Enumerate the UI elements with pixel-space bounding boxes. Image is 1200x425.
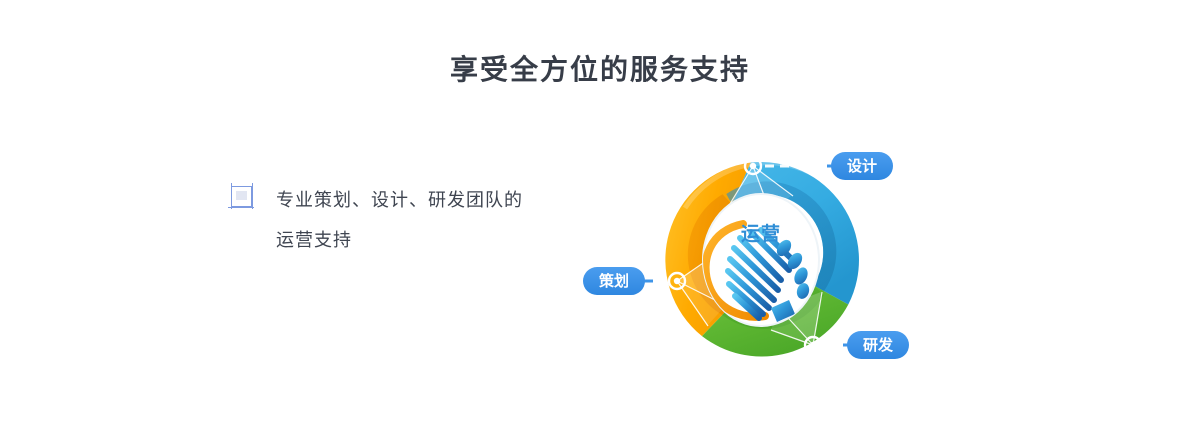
feature-text-line-2: 运营支持 [276, 220, 523, 260]
service-support-donut-diagram: 运营 设计 [575, 130, 915, 390]
donut-center-label: 运营 [741, 222, 781, 245]
page-title: 享受全方位的服务支持 [0, 50, 1200, 90]
marker-horizontal-line-bottom [228, 207, 254, 208]
svg-text:设计: 设计 [847, 157, 877, 175]
pill-label-research[interactable]: 研发 [847, 331, 909, 359]
feature-item: 专业策划、设计、研发团队的 运营支持 [228, 180, 523, 260]
feature-text: 专业策划、设计、研发团队的 运营支持 [276, 180, 523, 260]
feature-text-line-1: 专业策划、设计、研发团队的 [276, 180, 523, 220]
square-marker-icon [228, 183, 254, 209]
pill-label-planning[interactable]: 策划 [583, 267, 645, 295]
marker-fill [236, 191, 247, 200]
svg-text:策划: 策划 [598, 272, 629, 290]
pill-label-design[interactable]: 设计 [831, 152, 893, 180]
svg-text:研发: 研发 [863, 336, 894, 354]
page-root: 享受全方位的服务支持 专业策划、设计、研发团队的 运营支持 [0, 0, 1200, 425]
